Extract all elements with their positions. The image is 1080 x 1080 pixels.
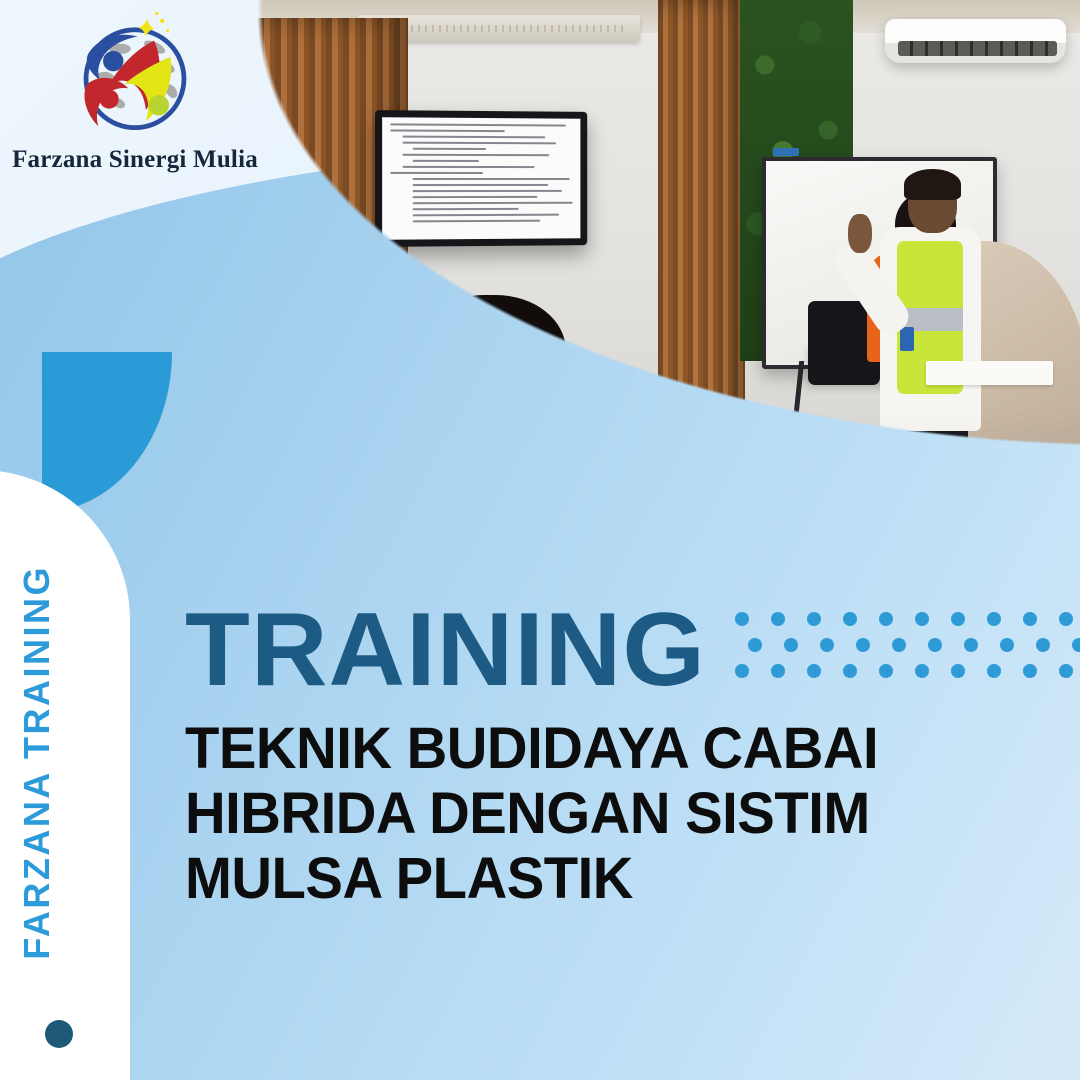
dot: [1072, 638, 1080, 652]
photo-vignette: [172, 0, 1080, 602]
globe-people-star-logo-icon: [67, 8, 203, 144]
dot: [1023, 612, 1037, 626]
page-title: TRAINING: [185, 603, 991, 699]
dot: [1000, 638, 1014, 652]
course-title-line-2: HIBRIDA DENGAN SISTIM: [185, 782, 951, 847]
dot: [1059, 664, 1073, 678]
training-poster: Farzana Sinergi Mulia FARZANA TRAINING T…: [0, 0, 1080, 1080]
headline-block: TRAINING TEKNIK BUDIDAYA CABAI HIBRIDA D…: [185, 603, 975, 912]
brand-logo-block: Farzana Sinergi Mulia: [10, 8, 260, 174]
course-title-line-3: MULSA PLASTIK: [185, 847, 951, 912]
dot: [1059, 612, 1073, 626]
side-label-farzana-training: FARZANA TRAINING: [16, 565, 58, 960]
photo-scene: [172, 0, 1080, 602]
brand-wordmark: Farzana Sinergi Mulia: [10, 146, 260, 174]
course-title: TEKNIK BUDIDAYA CABAI HIBRIDA DENGAN SIS…: [185, 717, 951, 912]
dot: [1036, 638, 1050, 652]
classroom-photo: [172, 0, 1080, 602]
dot: [1023, 664, 1037, 678]
side-accent-dot: [45, 1020, 73, 1048]
course-title-line-1: TEKNIK BUDIDAYA CABAI: [185, 717, 951, 782]
